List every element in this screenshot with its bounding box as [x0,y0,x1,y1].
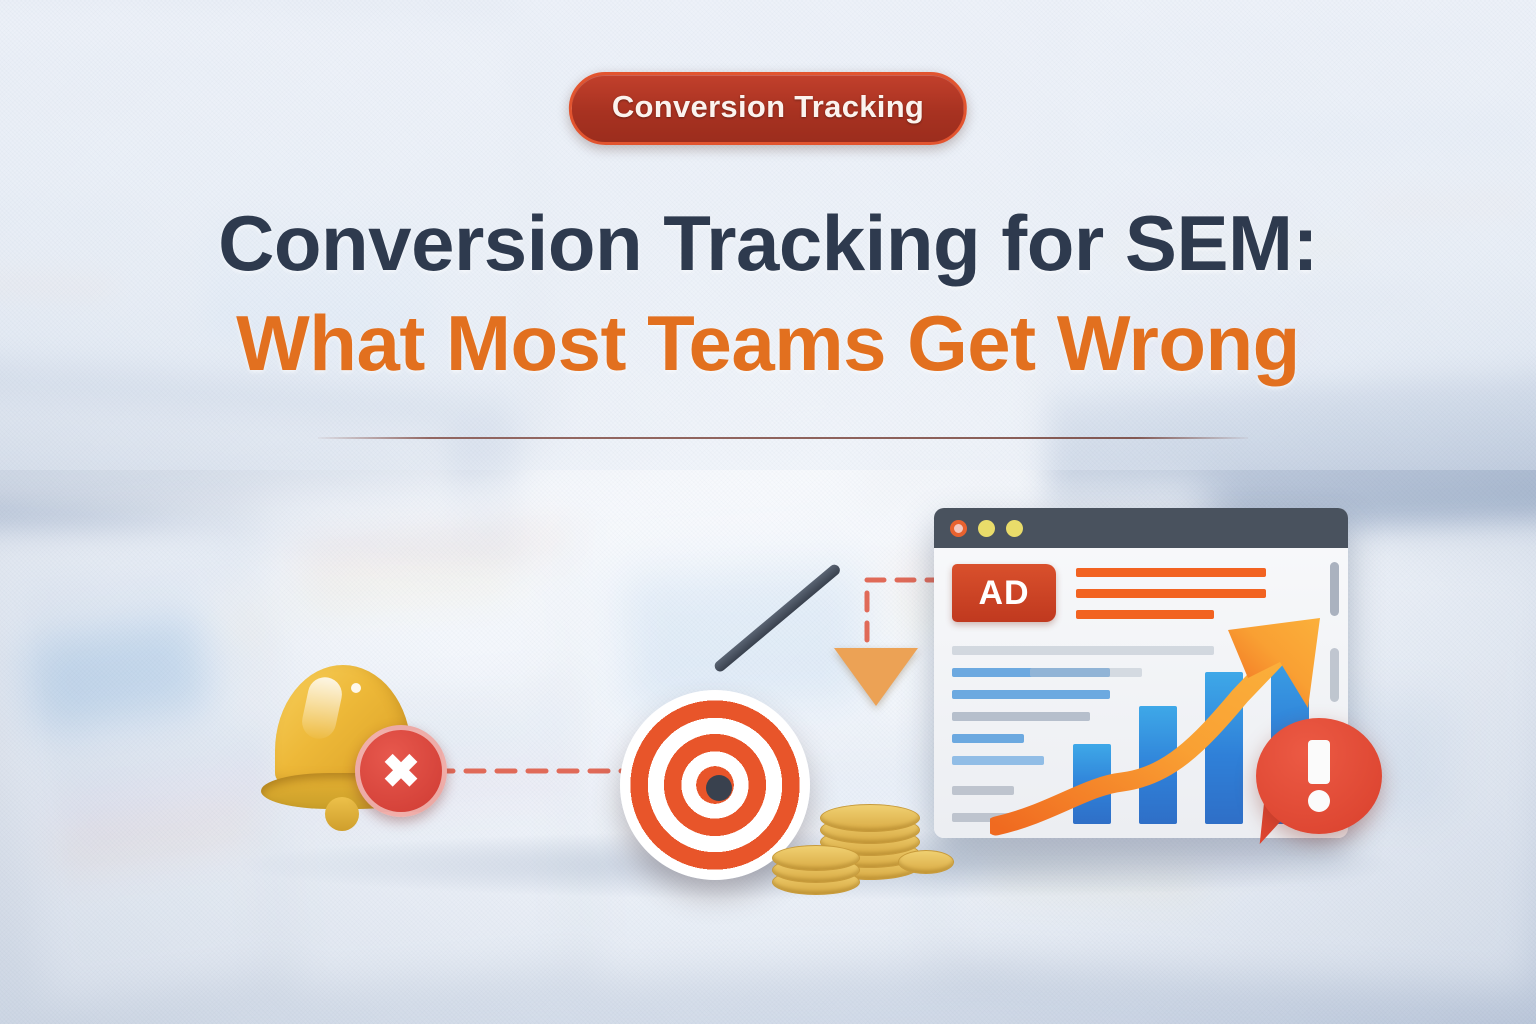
chart-bar [1073,744,1111,824]
body-line [952,786,1014,795]
headline-line [1076,589,1266,598]
minimize-button-icon[interactable] [978,520,995,537]
body-line [952,734,1024,743]
illustration-group: AD [0,0,1536,1024]
arrow-nock [706,775,732,801]
body-line [952,690,1110,699]
alert-speech-bubble [1256,718,1382,834]
notification-bell-group: ✖ [255,655,455,845]
chart-bar [1205,672,1243,824]
headline-line [1076,610,1214,619]
coin-single [898,850,954,876]
close-button-icon[interactable] [950,520,967,537]
body-line [1030,668,1142,677]
coin-stack-small [772,845,860,900]
bell-sparkle-icon [351,683,361,693]
bell-clapper [325,797,359,831]
body-line [952,756,1044,765]
arrow-shaft [712,562,842,673]
window-scrollbar[interactable] [1330,562,1339,616]
ad-badge: AD [952,564,1056,622]
window-titlebar [934,508,1348,548]
window-scrollbar[interactable] [1330,648,1339,702]
headline-line [1076,568,1266,577]
body-line [952,712,1090,721]
body-line [952,813,1018,822]
poster-canvas: Conversion Tracking Conversion Tracking … [0,0,1536,1024]
separator-line [952,646,1214,655]
arrow-head-icon [834,648,918,706]
x-mark-icon: ✖ [355,725,447,817]
exclamation-icon [1308,740,1330,812]
chart-bar [1139,706,1177,824]
maximize-button-icon[interactable] [1006,520,1023,537]
